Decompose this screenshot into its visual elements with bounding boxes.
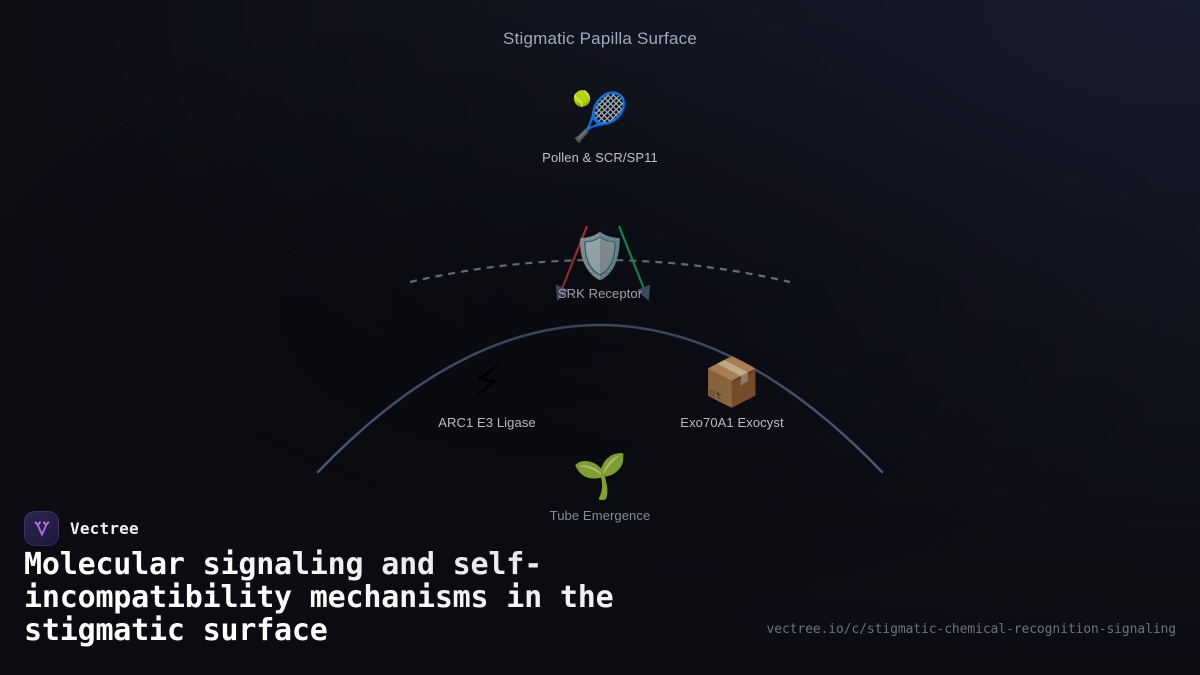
vectree-logo-icon — [24, 511, 59, 546]
node-srk-receptor[interactable]: 🛡️ SRK Receptor — [500, 231, 700, 301]
node-arc1-e3-ligase-label: ARC1 E3 Ligase — [387, 415, 587, 430]
node-exo70a1-exocyst[interactable]: 📦 Exo70A1 Exocyst — [632, 355, 832, 430]
node-exo70a1-exocyst-label: Exo70A1 Exocyst — [632, 415, 832, 430]
node-tube-emergence[interactable]: 🌱 Tube Emergence — [500, 450, 700, 523]
source-url: vectree.io/c/stigmatic-chemical-recognit… — [766, 622, 1176, 637]
seedling-icon: 🌱 — [500, 450, 700, 504]
node-pollen-label: Pollen & SCR/SP11 — [500, 150, 700, 165]
brand: Vectree — [24, 511, 139, 546]
node-srk-receptor-label: SRK Receptor — [500, 286, 700, 301]
lightning-icon: ⚡ — [387, 355, 587, 411]
node-tube-emergence-label: Tube Emergence — [500, 508, 700, 523]
package-icon: 📦 — [632, 355, 832, 411]
brand-name: Vectree — [70, 519, 139, 538]
tennis-icon: 🎾 — [500, 90, 700, 146]
node-pollen[interactable]: 🎾 Pollen & SCR/SP11 — [500, 90, 700, 165]
shield-icon: 🛡️ — [500, 231, 700, 283]
diagram-canvas: Stigmatic Papilla Surface 🎾 Pollen & SCR… — [0, 0, 1200, 675]
headline: Molecular signaling and self-incompatibi… — [24, 548, 684, 647]
node-arc1-e3-ligase[interactable]: ⚡ ARC1 E3 Ligase — [387, 355, 587, 430]
